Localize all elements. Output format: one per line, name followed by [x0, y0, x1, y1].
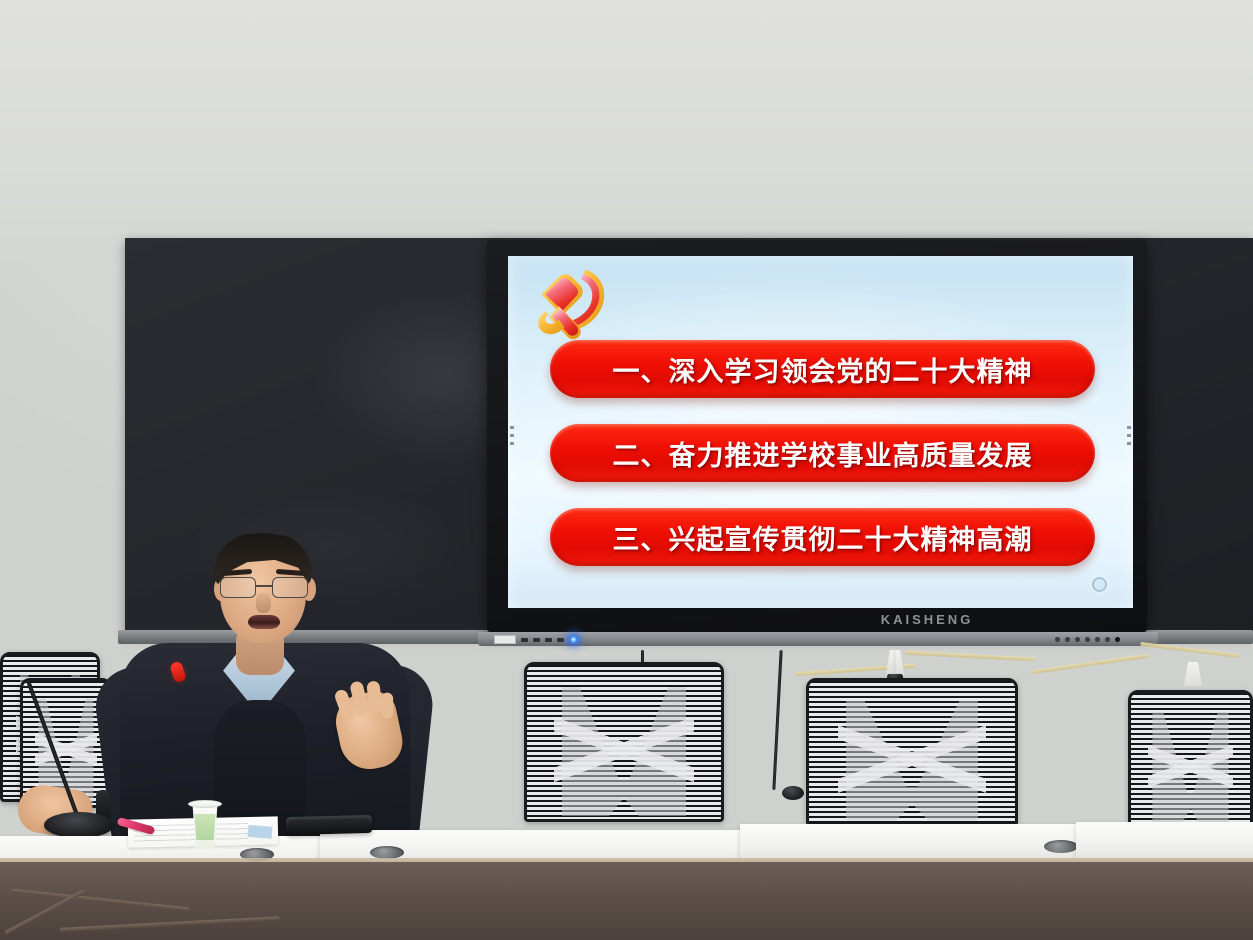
slide-bullet-1-label: 一、深入学习领会党的二十大精神 — [613, 350, 1033, 389]
hanging-microphone-icon — [782, 786, 804, 800]
slide-edge-handle-left-1[interactable] — [510, 426, 514, 429]
paper-cup-rim — [188, 800, 222, 808]
meeting-room-photo: KAISHENG — [0, 0, 1253, 940]
tv-port-6[interactable] — [1105, 637, 1110, 642]
room-floor — [0, 862, 1253, 940]
tv-control-strip[interactable] — [494, 635, 578, 644]
tv-port-3[interactable] — [1075, 637, 1080, 642]
speaker-nose — [256, 593, 271, 613]
table-right-2 — [1076, 822, 1253, 860]
glasses-bridge — [256, 585, 272, 587]
tv-power-led-icon[interactable] — [569, 635, 578, 644]
wall-upper-shading — [0, 0, 1253, 260]
tv-button-1[interactable] — [521, 638, 528, 642]
glasses-lens-left — [220, 577, 256, 598]
tv-button-3[interactable] — [545, 638, 552, 642]
slide-bullet-1[interactable]: 一、深入学习领会党的二十大精神 — [550, 340, 1095, 398]
tv-port-5[interactable] — [1095, 637, 1100, 642]
slide-edge-handle-left-2[interactable] — [510, 434, 514, 437]
slide-edge-handle-left-3[interactable] — [510, 442, 514, 445]
desk-microphone-base[interactable] — [44, 812, 114, 838]
chair-4-backrest — [524, 662, 724, 822]
tv-port-7[interactable] — [1115, 637, 1120, 642]
slide-bullet-3-label: 三、兴起宣传贯彻二十大精神高潮 — [613, 518, 1033, 557]
slide-corner-indicator-icon[interactable] — [1092, 577, 1107, 592]
tv-port-4[interactable] — [1085, 637, 1090, 642]
table-right-1 — [740, 824, 1085, 862]
slide-bullet-2[interactable]: 二、奋力推进学校事业高质量发展 — [550, 424, 1095, 482]
tv-port-2[interactable] — [1065, 637, 1070, 642]
chair-6-backrest — [1128, 690, 1253, 830]
presentation-slide[interactable]: 一、深入学习领会党的二十大精神 二、奋力推进学校事业高质量发展 三、兴起宣传贯彻… — [508, 256, 1133, 608]
slide-edge-handle-right-3[interactable] — [1127, 442, 1131, 445]
speaker-mouth — [248, 615, 280, 629]
tv-spec-label — [494, 635, 516, 644]
slide-bullet-3[interactable]: 三、兴起宣传贯彻二十大精神高潮 — [550, 508, 1095, 566]
finger-4 — [381, 693, 393, 719]
chair-4[interactable] — [524, 662, 724, 822]
tv-brand-logo: KAISHENG — [597, 612, 1253, 627]
tv-button-2[interactable] — [533, 638, 540, 642]
slide-bullet-list: 一、深入学习领会党的二十大精神 二、奋力推进学校事业高质量发展 三、兴起宣传贯彻… — [550, 340, 1095, 592]
tv-port-row[interactable] — [1055, 637, 1120, 642]
chair-5[interactable] — [806, 678, 1018, 826]
glasses-lens-right — [272, 577, 308, 598]
slide-bullet-2-label: 二、奋力推进学校事业高质量发展 — [613, 434, 1033, 473]
party-emblem-icon — [526, 262, 622, 348]
paper-blue-marker — [248, 825, 273, 839]
tv-port-1[interactable] — [1055, 637, 1060, 642]
paper-cup-band — [193, 814, 217, 840]
chair-6[interactable] — [1128, 690, 1253, 830]
slide-edge-handle-right-2[interactable] — [1127, 434, 1131, 437]
table-grommet-3 — [1044, 840, 1078, 853]
chair-5-backrest — [806, 678, 1018, 826]
tv-button-4[interactable] — [557, 638, 564, 642]
smartphone[interactable] — [286, 815, 372, 835]
speaker-person — [110, 515, 420, 845]
slide-edge-handle-right-1[interactable] — [1127, 426, 1131, 429]
